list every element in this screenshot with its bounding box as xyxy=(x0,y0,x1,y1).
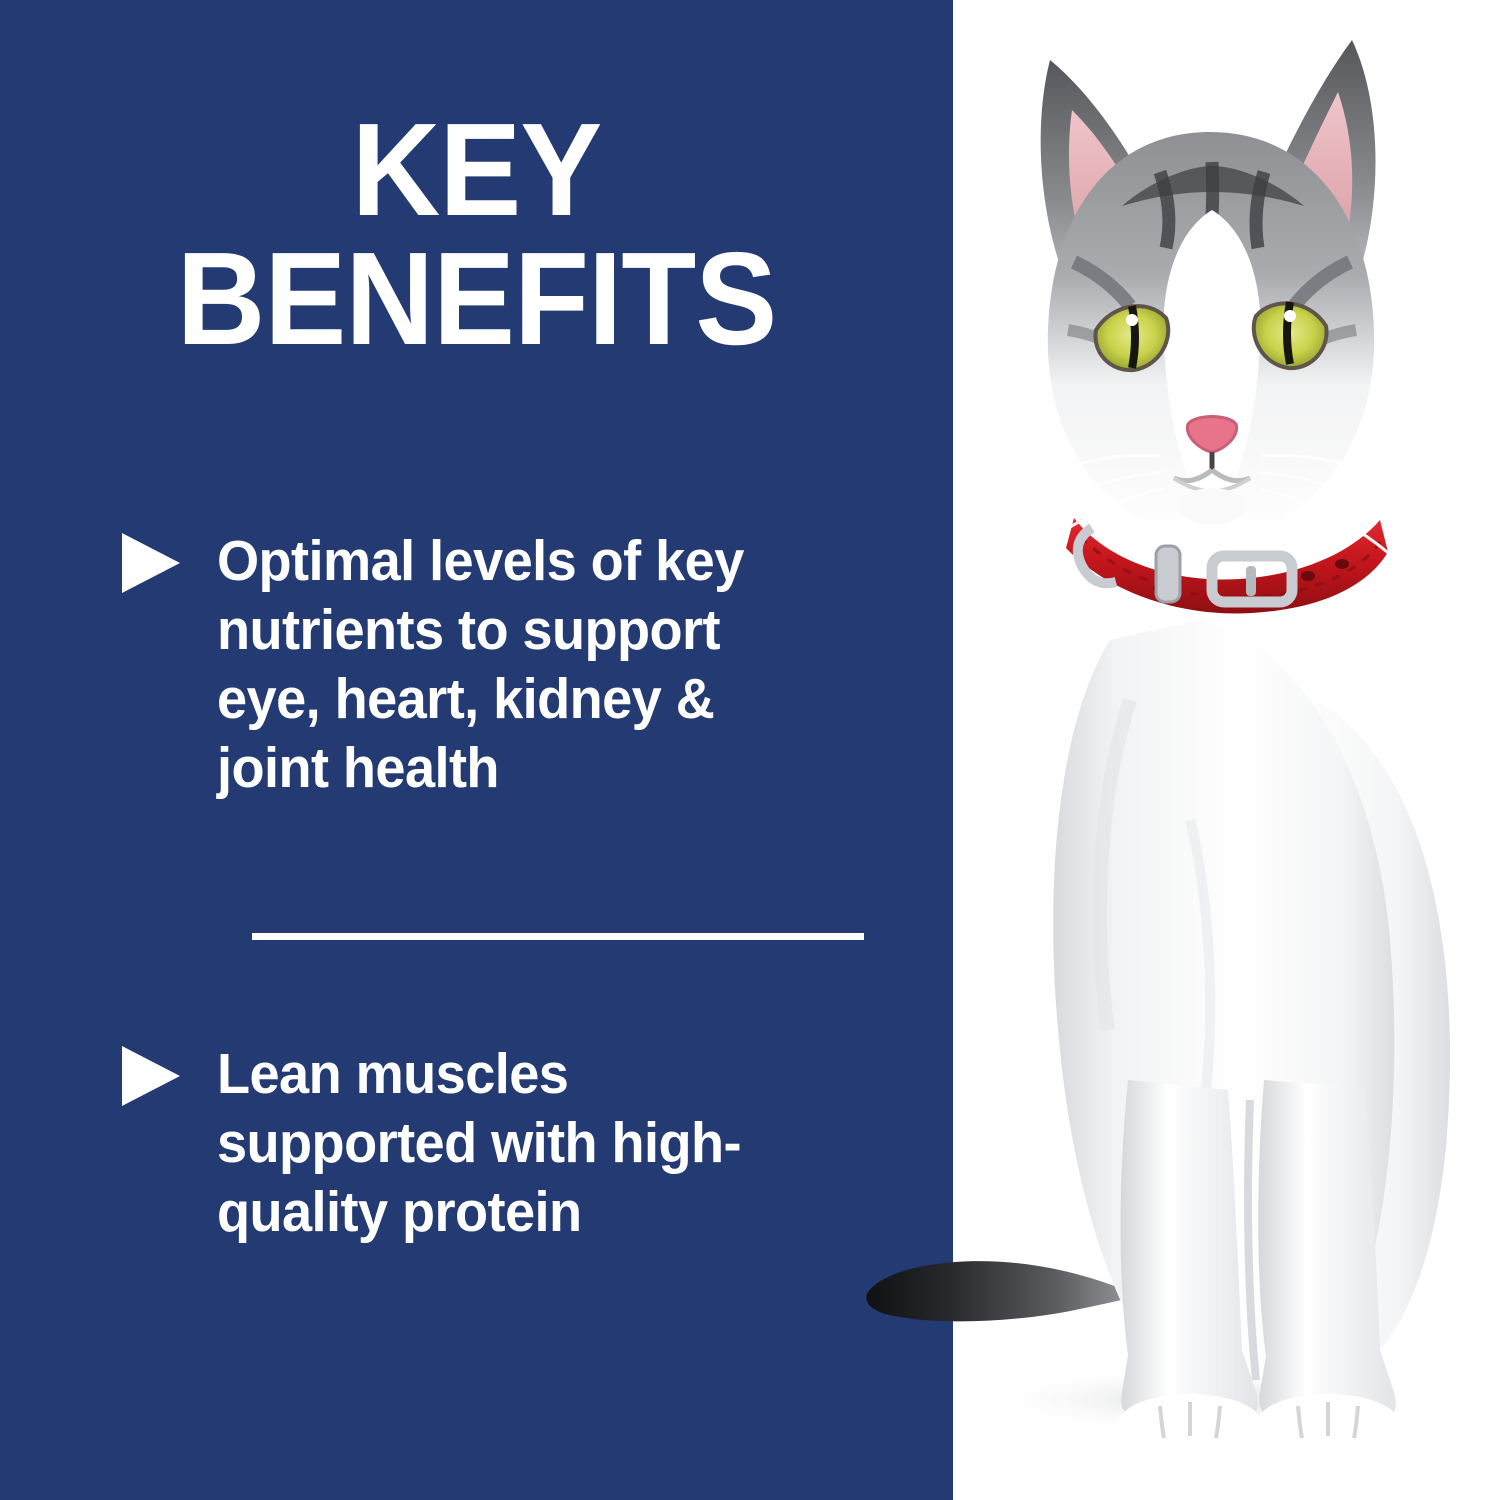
page-title-line-1: KEY xyxy=(33,105,919,234)
benefit-item-2-label: Lean muscles supported with high-quality… xyxy=(217,1040,809,1247)
benefit-item-1: Optimal levels of key nutrients to suppo… xyxy=(0,527,840,803)
cat-eye-right xyxy=(1254,302,1327,368)
triangle-right-icon xyxy=(122,1046,180,1106)
benefit-item-2: Lean muscles supported with high-quality… xyxy=(0,1040,840,1247)
key-benefits-banner: KEY BENEFITS Optimal levels of key nutri… xyxy=(0,0,1500,1500)
section-divider xyxy=(252,933,864,940)
page-title-line-2: BENEFITS xyxy=(33,234,919,363)
cat-eye-left xyxy=(1095,306,1168,370)
triangle-right-icon xyxy=(122,533,180,593)
cat-photo xyxy=(860,0,1500,1500)
cat-head xyxy=(996,40,1426,560)
page-title: KEY BENEFITS xyxy=(33,105,919,364)
benefit-item-1-label: Optimal levels of key nutrients to suppo… xyxy=(217,527,809,803)
